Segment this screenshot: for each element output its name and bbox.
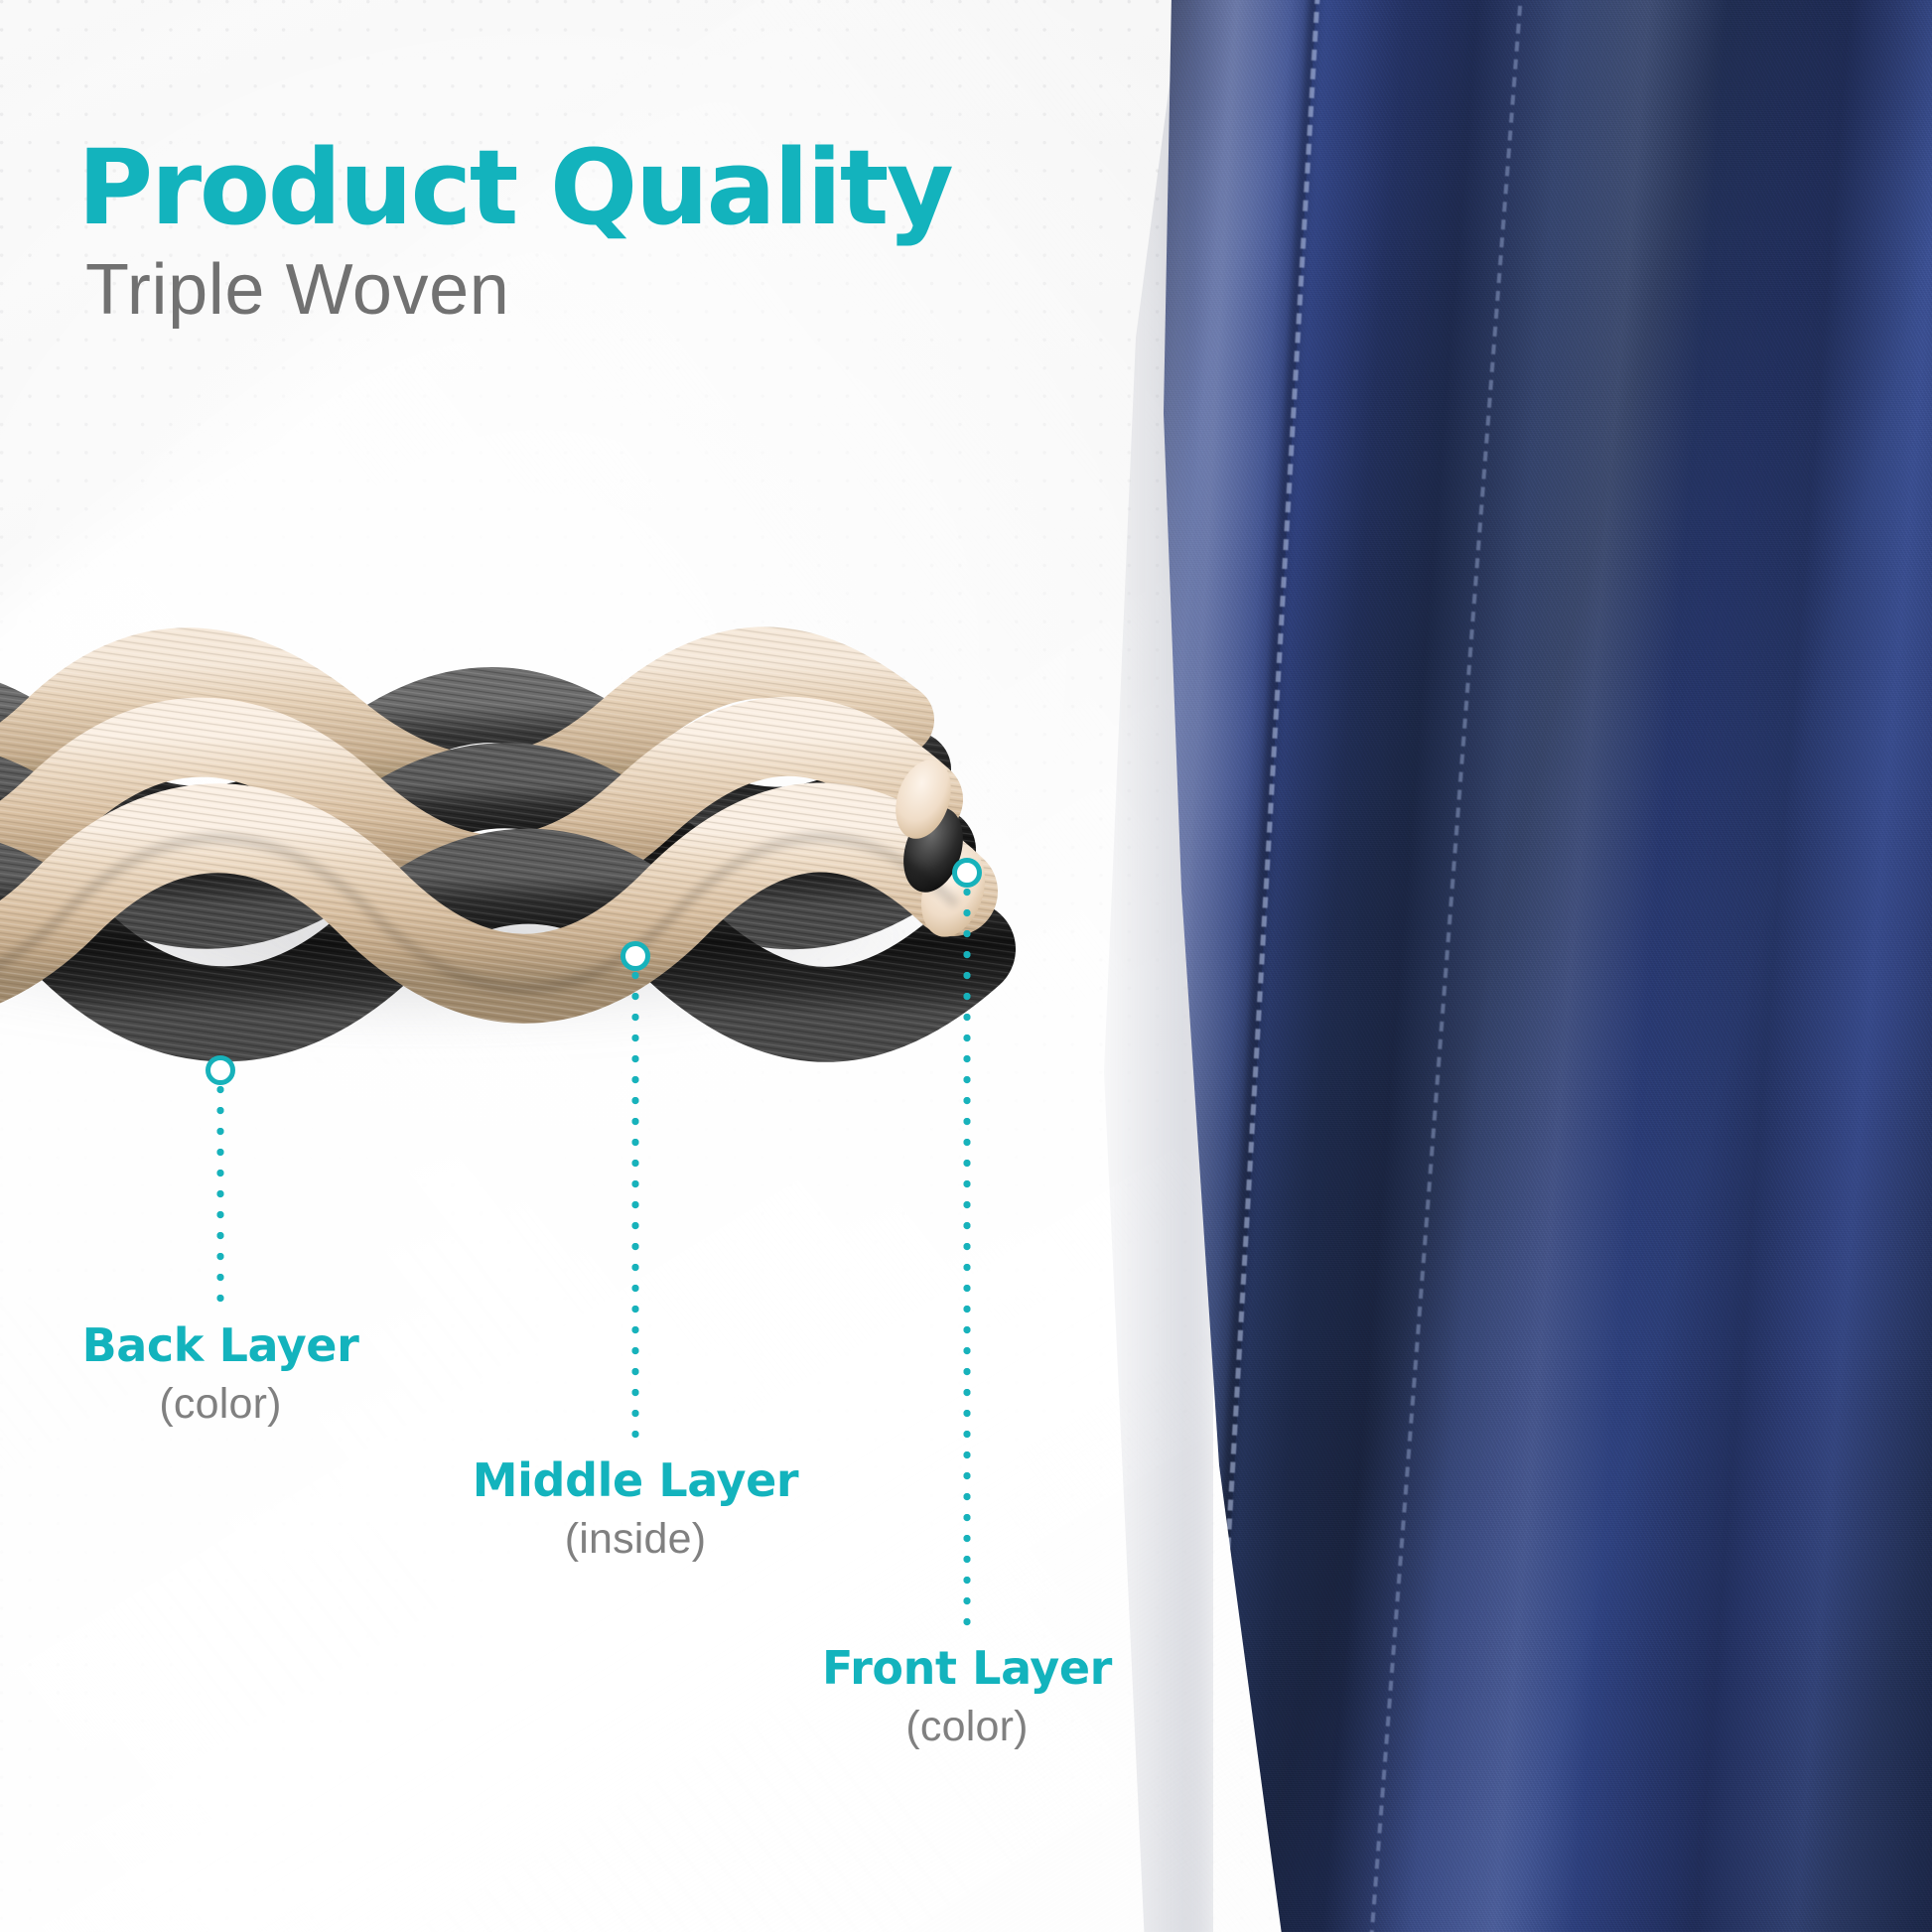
callout-label-front-layer: Front Layer (color): [822, 1643, 1112, 1752]
callout-label-back-layer: Back Layer (color): [82, 1320, 359, 1430]
callout-leader-back-layer: [217, 1086, 224, 1307]
product-quality-infographic: Product Quality Triple Woven: [0, 0, 1932, 1932]
callout-title-back-layer: Back Layer: [82, 1320, 359, 1372]
callout-subtitle-front-layer: (color): [822, 1701, 1112, 1752]
callout-label-middle-layer: Middle Layer (inside): [473, 1455, 798, 1565]
callout-leader-middle-layer: [632, 972, 639, 1441]
page-title: Product Quality: [77, 135, 1150, 240]
callout-title-front-layer: Front Layer: [822, 1643, 1112, 1695]
page-subtitle: Triple Woven: [85, 254, 1150, 327]
callout-title-middle-layer: Middle Layer: [473, 1455, 798, 1507]
callout-marker-middle-layer[interactable]: [621, 941, 650, 971]
callout-marker-front-layer[interactable]: [952, 858, 982, 888]
callout-leader-front-layer: [964, 889, 971, 1629]
callout-marker-back-layer[interactable]: [206, 1055, 235, 1085]
curtain-panel-image: [1124, 0, 1932, 1932]
headline-block: Product Quality Triple Woven: [77, 135, 1150, 328]
woven-fabric-illustration: [0, 516, 1102, 1033]
callout-subtitle-back-layer: (color): [82, 1378, 359, 1430]
callout-subtitle-middle-layer: (inside): [473, 1513, 798, 1565]
